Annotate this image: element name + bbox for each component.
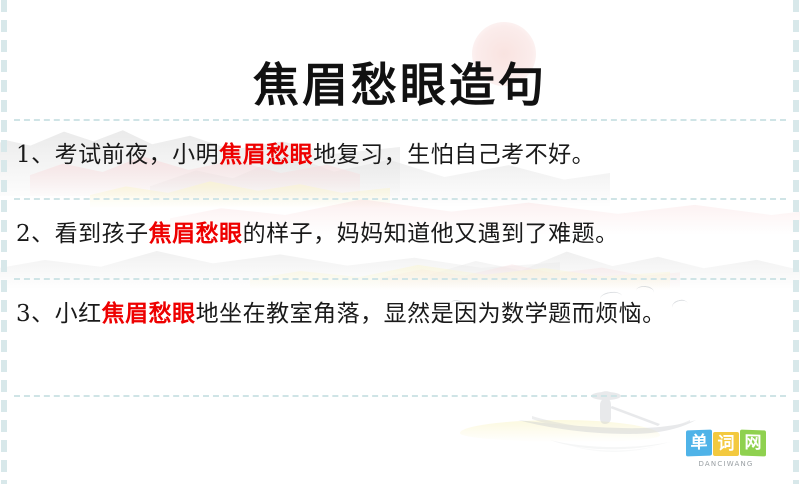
- site-logo[interactable]: 单 词 网 DANCIWANG: [676, 428, 776, 468]
- keyword-highlight: 焦眉愁眼: [149, 220, 243, 247]
- yellow-wash-decoration: [90, 172, 390, 208]
- logo-char-block-2: 词: [713, 432, 739, 456]
- sentence-index: 3、: [16, 301, 55, 327]
- sentence-index: 2、: [16, 221, 55, 247]
- keyword-highlight: 焦眉愁眼: [219, 141, 313, 168]
- sentence-text-before: 看到孩子: [55, 221, 149, 247]
- sentence-text-before: 考试前夜，小明: [55, 142, 220, 168]
- pink-wash-decoration: [380, 250, 680, 290]
- sentence-item: 3、小红焦眉愁眼地坐在教室角落，显然是因为数学题而烦恼。: [16, 295, 784, 333]
- sentence-text-after: 的样子，妈妈知道他又遇到了难题。: [243, 221, 619, 247]
- page-title: 焦眉愁眼造句: [0, 57, 800, 115]
- sentence-item: 1、考试前夜，小明焦眉愁眼地复习，生怕自己考不好。: [16, 136, 784, 174]
- logo-char-block-1: 单: [686, 430, 712, 457]
- page-border-left: [1, 0, 7, 484]
- logo-blocks: 单 词 网: [676, 428, 776, 456]
- page-border-right: [793, 0, 799, 484]
- yellow-wash-decoration: [460, 420, 660, 442]
- sentence-item: 2、看到孩子焦眉愁眼的样子，妈妈知道他又遇到了难题。: [16, 215, 784, 253]
- yellow-wash-decoration: [250, 252, 670, 290]
- document-page: 焦眉愁眼造句 1、考试前夜，小明焦眉愁眼地复习，生怕自己考不好。 2、看到孩子焦…: [0, 0, 800, 484]
- separator-line: [14, 198, 786, 200]
- keyword-highlight: 焦眉愁眼: [102, 300, 196, 327]
- sentence-index: 1、: [16, 142, 55, 168]
- logo-char-block-3: 网: [740, 430, 766, 457]
- logo-caption: DANCIWANG: [676, 460, 776, 468]
- separator-line: [14, 278, 786, 280]
- sentence-text-after: 地坐在教室角落，显然是因为数学题而烦恼。: [196, 301, 666, 327]
- sentence-text-after: 地复习，生怕自己考不好。: [313, 142, 595, 168]
- separator-line: [14, 395, 786, 397]
- separator-line: [14, 119, 786, 121]
- sentence-text-before: 小红: [55, 301, 102, 327]
